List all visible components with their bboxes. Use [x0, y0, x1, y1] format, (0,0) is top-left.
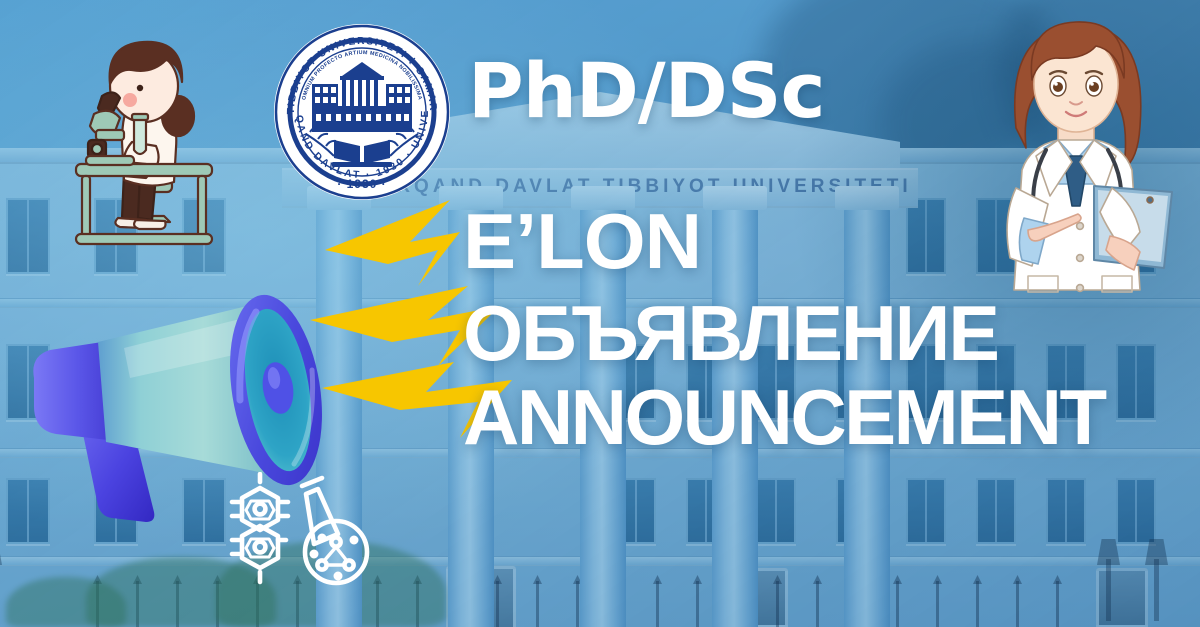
seal-year: · 1930 ·	[337, 177, 386, 191]
university-seal: SAMARQAND DAVLAT TIBBIYOT UNIVERSITETI ⚕…	[272, 22, 452, 202]
female-doctor-illustration	[962, 10, 1192, 310]
coat-button	[1077, 223, 1084, 230]
lightning-bolts-group	[300, 190, 530, 460]
coat-button	[1077, 255, 1084, 262]
megaphone-back	[33, 342, 108, 440]
lightning-bolt	[310, 286, 500, 366]
chemistry-molecule-flask-icon	[218, 472, 378, 590]
coat-button	[1077, 285, 1084, 292]
cheek-blush	[123, 93, 137, 107]
round-bottom-flask	[302, 478, 367, 583]
lightning-bolt	[322, 362, 512, 438]
eye	[137, 85, 143, 91]
test-tube	[132, 114, 148, 154]
girl-scientist-illustration	[52, 22, 242, 252]
announcement-banner: SAMARQAND DAVLAT TIBBIYOT UNIVERSITETI	[0, 0, 1200, 627]
lightning-bolt	[325, 200, 460, 286]
